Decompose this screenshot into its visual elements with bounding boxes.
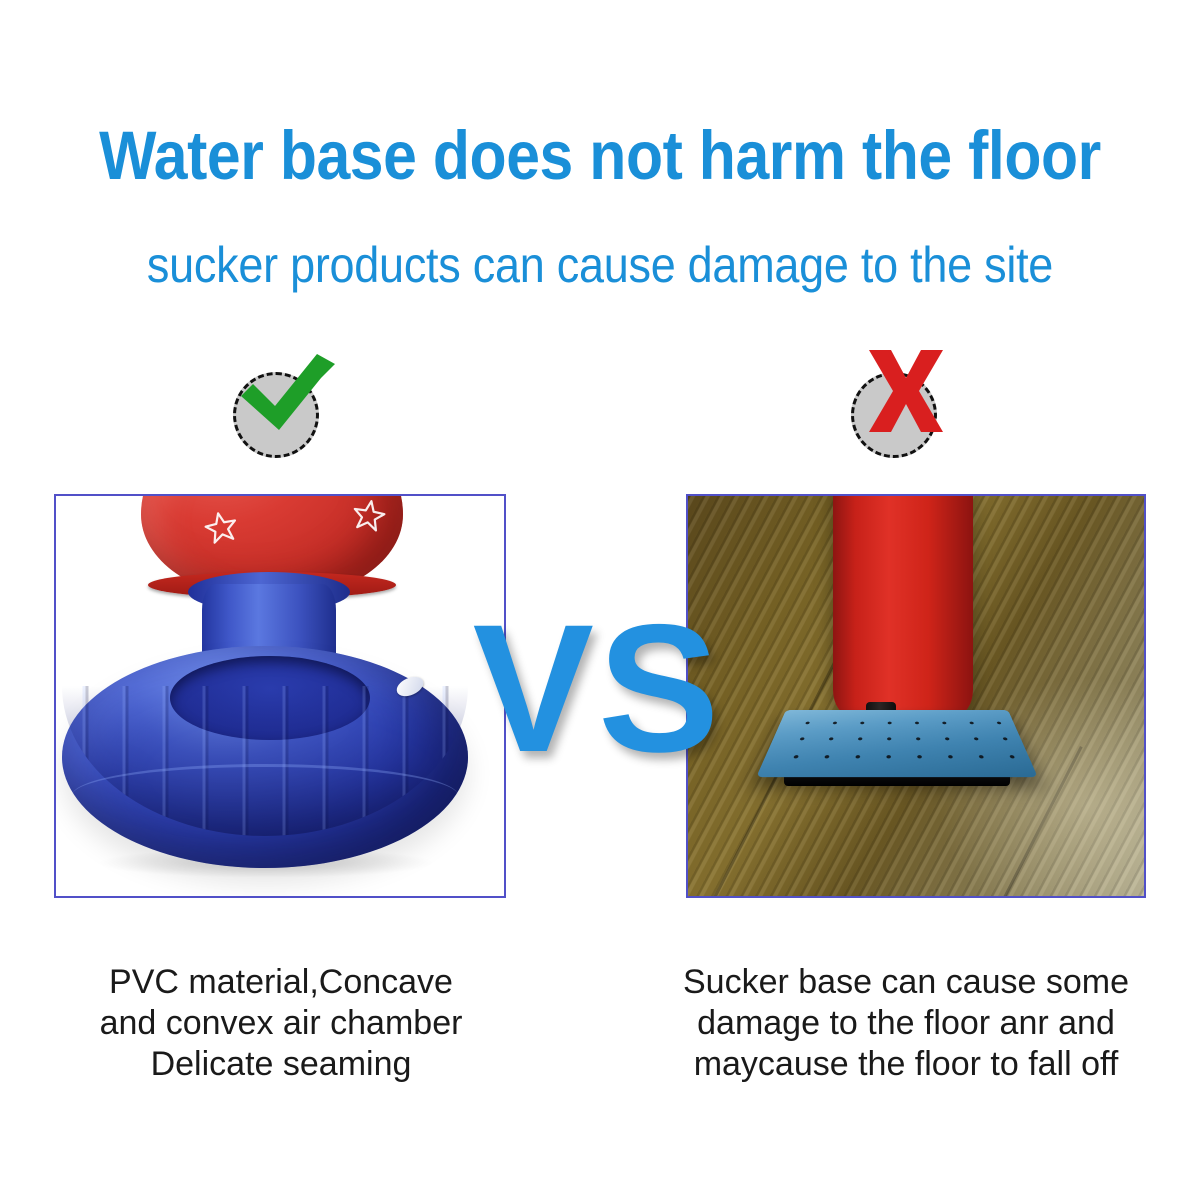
page-title: Water base does not harm the floor [72,118,1128,194]
suction-cup-base-plate [756,710,1038,777]
star-outline-icon [349,495,388,534]
versus-label: VS [443,588,753,788]
caption-line: Sucker base can cause some [660,962,1152,1003]
ring-weld-seam [72,764,458,827]
caption-line: damage to the floor anr and [660,1003,1152,1044]
suction-cup-dots [771,714,1023,772]
page-subtitle: sucker products can cause damage to the … [60,236,1140,294]
caption-sucker-base: Sucker base can cause some damage to the… [660,962,1152,1085]
caption-line: PVC material,Concave [48,962,514,1003]
verdict-badge-rejected [851,358,947,454]
red-punching-bag-column [833,494,973,716]
caption-water-base: PVC material,Concave and convex air cham… [48,962,514,1085]
photo-panel-water-base [54,494,506,898]
caption-line: Delicate seaming [48,1044,514,1085]
caption-line: maycause the floor to fall off [660,1044,1152,1085]
photo-panel-sucker-base [686,494,1146,898]
caption-line: and convex air chamber [48,1003,514,1044]
product-comparison-infographic: Water base does not harm the floor sucke… [0,0,1200,1200]
star-outline-icon [201,507,241,547]
check-icon [239,352,337,438]
verdict-badge-approved [233,358,329,454]
inflatable-product-illustration [56,496,504,896]
cross-icon [863,348,949,434]
